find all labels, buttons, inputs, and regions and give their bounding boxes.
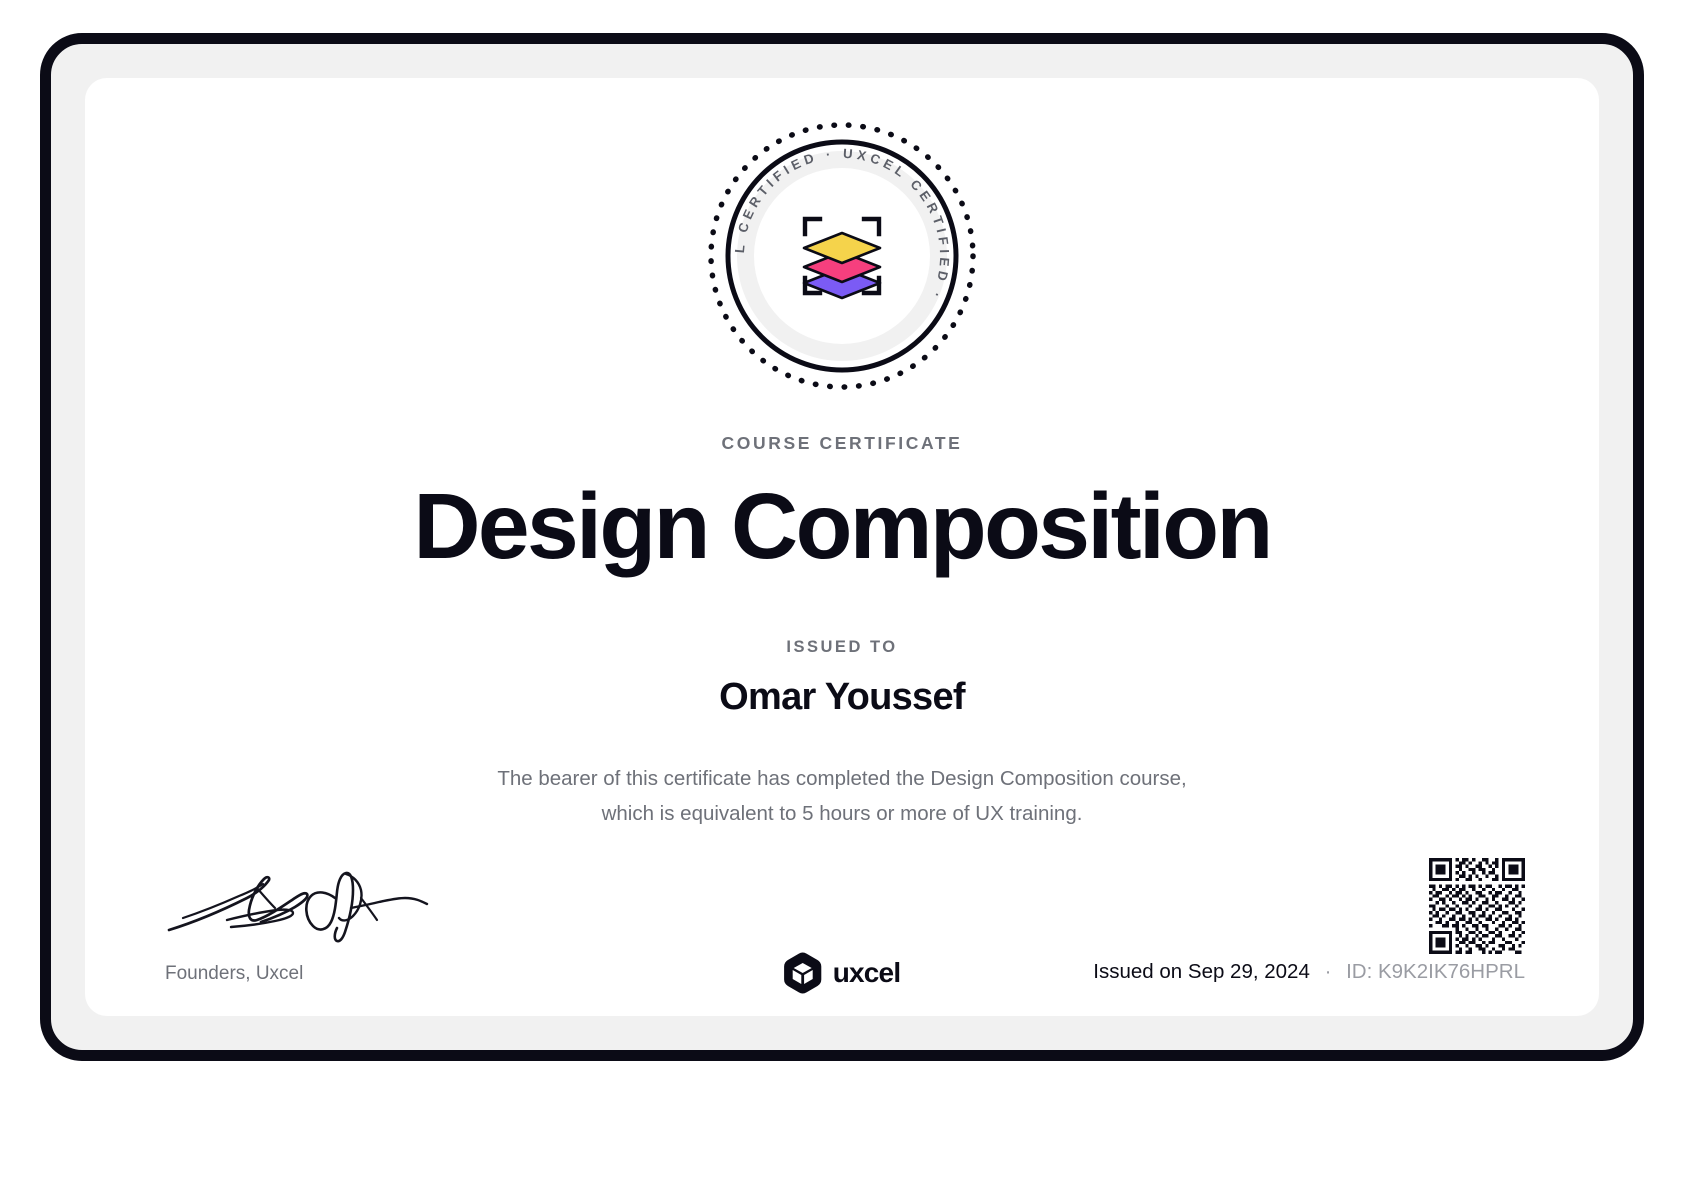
certificate-id: ID: K9K2IK76HPRL (1346, 960, 1525, 983)
certificate-meta: Issued on Sep 29, 2024 · ID: K9K2IK76HPR… (1093, 960, 1525, 984)
founder-signatures (165, 868, 465, 948)
seal-layers-icon (804, 233, 880, 298)
certificate-eyebrow: COURSE CERTIFICATE (85, 433, 1599, 454)
certificate-card: UXCEL CERTIFIED · UXCEL CERTIFIED · (85, 78, 1599, 1016)
uxcel-hexagon-icon (784, 952, 822, 994)
uxcel-certified-seal: UXCEL CERTIFIED · UXCEL CERTIFIED · (702, 116, 982, 396)
certificate-body: The bearer of this certificate has compl… (392, 761, 1292, 832)
signature-caption: Founders, Uxcel (165, 963, 303, 985)
certificate-qr-code[interactable] (1429, 858, 1525, 954)
certificate-body-line-2: which is equivalent to 5 hours or more o… (392, 796, 1292, 831)
course-title: Design Composition (85, 478, 1599, 576)
meta-separator: · (1325, 960, 1332, 983)
certificate-frame: UXCEL CERTIFIED · UXCEL CERTIFIED · (40, 33, 1644, 1061)
uxcel-wordmark: uxcel (833, 957, 901, 989)
uxcel-brand-logo: uxcel (784, 952, 901, 994)
recipient-name: Omar Youssef (85, 676, 1599, 719)
certificate-body-line-1: The bearer of this certificate has compl… (392, 761, 1292, 796)
issued-to-label: ISSUED TO (85, 638, 1599, 657)
issued-on-date: Issued on Sep 29, 2024 (1093, 960, 1310, 983)
